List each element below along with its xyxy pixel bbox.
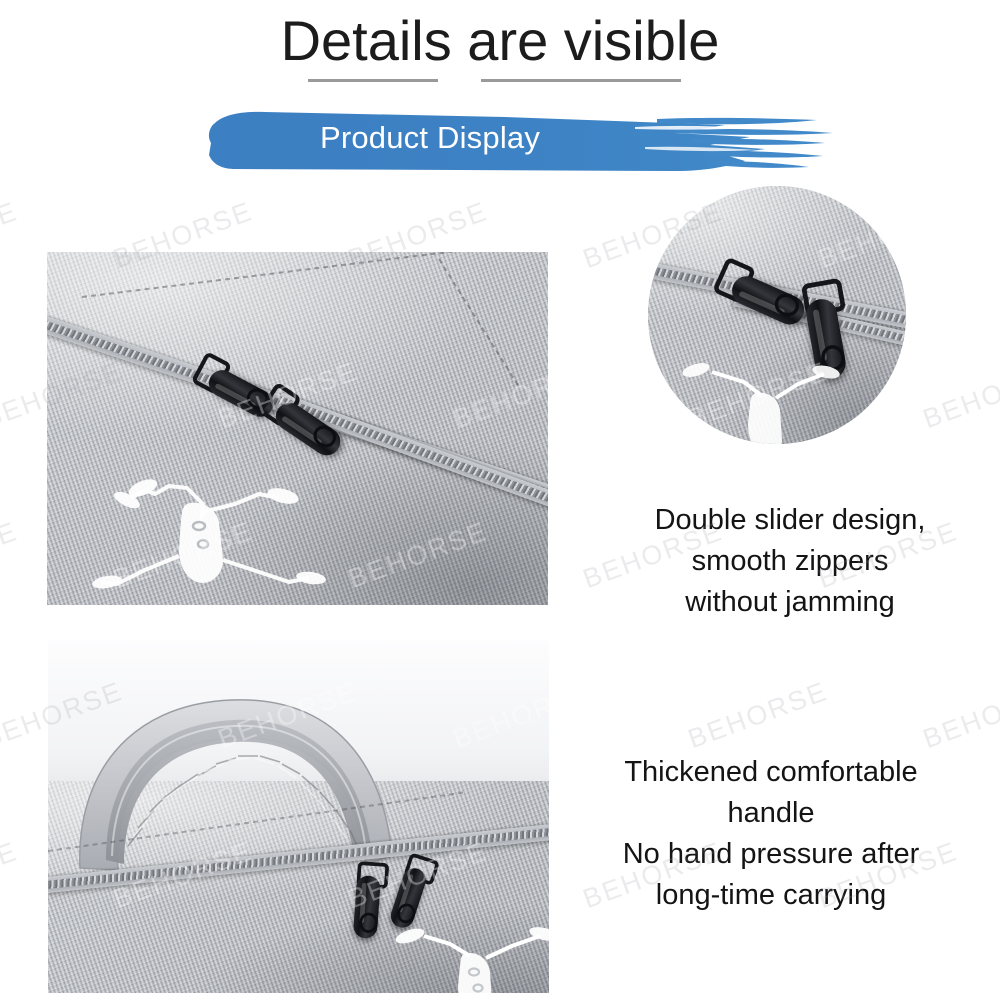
watermark-text: BEHORSE bbox=[0, 836, 22, 915]
caption-line: handle bbox=[556, 793, 986, 834]
banner-label: Product Display bbox=[205, 117, 655, 159]
zipper-caption: Double slider design, smooth zippers wit… bbox=[592, 500, 988, 623]
handle-detail-photo bbox=[48, 640, 549, 993]
drone-print-graphic bbox=[368, 922, 549, 993]
watermark-text: BEHORSE bbox=[684, 676, 832, 755]
handle-caption: Thickened comfortable handle No hand pre… bbox=[556, 752, 986, 916]
watermark-text: BEHORSE bbox=[0, 516, 22, 595]
caption-line: long-time carrying bbox=[556, 875, 986, 916]
zipper-detail-photo bbox=[47, 252, 548, 605]
caption-line: Thickened comfortable bbox=[556, 752, 986, 793]
page-title: Details are visible bbox=[0, 8, 1000, 74]
watermark-text: BEHORSE bbox=[919, 676, 1000, 755]
watermark-text: BEHORSE bbox=[0, 196, 22, 275]
product-detail-page: Details are visible Product Dis bbox=[0, 0, 1000, 1000]
drone-print-graphic bbox=[83, 464, 363, 605]
caption-line: smooth zippers bbox=[592, 541, 988, 582]
watermark-text: BEHORSE bbox=[919, 356, 1000, 435]
title-underline-left bbox=[308, 79, 438, 82]
caption-line: without jamming bbox=[592, 582, 988, 623]
caption-line: No hand pressure after bbox=[556, 834, 986, 875]
zipper-closeup-circle-photo bbox=[648, 186, 906, 444]
title-underline-right bbox=[481, 79, 681, 82]
product-display-banner: Product Display bbox=[205, 103, 845, 175]
caption-line: Double slider design, bbox=[592, 500, 988, 541]
drone-print-graphic bbox=[658, 354, 888, 444]
